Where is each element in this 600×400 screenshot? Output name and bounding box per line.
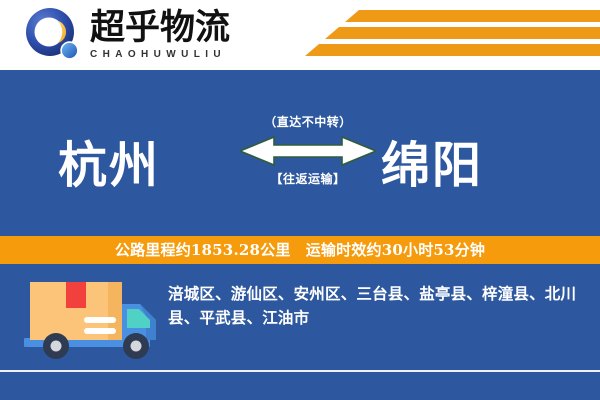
- round-trip-note: 【往返运输】: [240, 171, 376, 187]
- coverage-section: 涪城区、游仙区、安州区、三台县、盐亭县、梓潼县、北川县、平武县、江油市: [0, 264, 600, 370]
- route-section: 杭州 （直达不中转） 【往返运输】 绵阳: [0, 70, 600, 236]
- destination-city: 绵阳: [381, 139, 483, 191]
- route-middle: （直达不中转） 【往返运输】: [240, 114, 376, 187]
- circle-crescent-logo-icon: [24, 6, 82, 64]
- brand-logo: 超乎物流 CHAOHUWULIU: [24, 6, 230, 64]
- double-headed-arrow-icon: [240, 134, 376, 168]
- origin-city: 杭州: [58, 139, 160, 191]
- brand-text: 超乎物流 CHAOHUWULIU: [90, 9, 230, 61]
- stripe-1: [345, 10, 600, 22]
- banner-footer: [0, 372, 600, 400]
- decorative-stripes: [300, 0, 600, 70]
- stripe-2: [325, 27, 600, 39]
- brand-name-en: CHAOHUWULIU: [90, 48, 230, 61]
- delivery-truck-icon: [22, 276, 170, 362]
- distance-duration-text: 公路里程约1853.28公里 运输时效约30小时53分钟: [115, 240, 485, 260]
- direct-service-note: （直达不中转）: [240, 114, 376, 130]
- distance-duration-bar: 公路里程约1853.28公里 运输时效约30小时53分钟: [0, 236, 600, 264]
- coverage-districts: 涪城区、游仙区、安州区、三台县、盐亭县、梓潼县、北川县、平武县、江油市: [168, 282, 584, 330]
- stripe-3: [305, 44, 600, 56]
- banner-header: 超乎物流 CHAOHUWULIU: [0, 0, 600, 70]
- logistics-route-banner: 超乎物流 CHAOHUWULIU 杭州 （直达不中转） 【往返运输】 绵阳 公路…: [0, 0, 600, 400]
- brand-name-cn: 超乎物流: [90, 9, 230, 47]
